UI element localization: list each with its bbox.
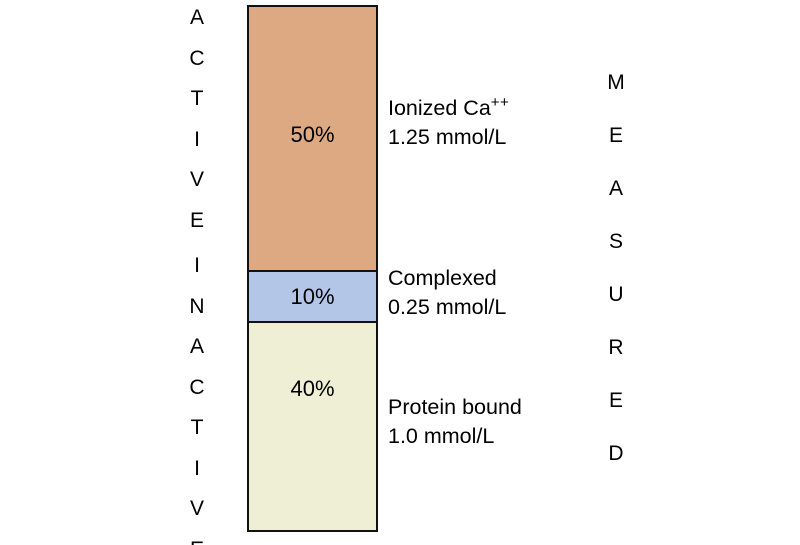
inactive-letter: I [186, 458, 208, 479]
inactive-letter: T [186, 417, 208, 438]
measured-letter: M [605, 72, 627, 93]
bar-segment-ionized: 50% [249, 7, 376, 270]
vertical-label-measured: M E A S U R E D [605, 72, 627, 496]
label-protein-concentration: 1.0 mmol/L [388, 422, 522, 451]
label-ionized: Ionized Ca++ 1.25 mmol/L [388, 88, 509, 152]
measured-letter: E [605, 390, 627, 411]
measured-letter: A [605, 178, 627, 199]
active-letter: I [186, 129, 208, 150]
inactive-letter: I [186, 255, 208, 276]
active-letter: T [186, 88, 208, 109]
vertical-label-active: A C T I V E [186, 7, 208, 250]
active-letter: C [186, 48, 208, 69]
measured-letter: E [605, 125, 627, 146]
measured-letter: S [605, 231, 627, 252]
active-letter: V [186, 169, 208, 190]
label-ionized-charge: ++ [491, 94, 510, 111]
label-ionized-name: Ionized Ca++ [388, 88, 509, 123]
inactive-letter: C [186, 377, 208, 398]
vertical-label-inactive: I N A C T I V E [186, 255, 208, 545]
label-complexed-name: Complexed [388, 264, 506, 293]
label-ionized-concentration: 1.25 mmol/L [388, 123, 509, 152]
bar-segment-complexed: 10% [249, 270, 376, 323]
label-ionized-text: Ionized Ca [388, 96, 491, 120]
measured-letter: U [605, 284, 627, 305]
inactive-letter: N [186, 296, 208, 317]
bar-segment-protein: 40% [249, 323, 376, 530]
active-letter: A [186, 7, 208, 28]
measured-letter: R [605, 337, 627, 358]
label-complexed: Complexed 0.25 mmol/L [388, 264, 506, 322]
measured-letter: D [605, 443, 627, 464]
inactive-letter: V [186, 498, 208, 519]
stacked-bar-chart: 50% 10% 40% [247, 5, 378, 532]
inactive-letter: E [186, 539, 208, 545]
segment-percent-label: 40% [290, 376, 334, 402]
label-protein-name: Protein bound [388, 393, 522, 422]
active-letter: E [186, 210, 208, 231]
segment-percent-label: 50% [290, 122, 334, 148]
segment-percent-label: 10% [290, 284, 334, 310]
label-complexed-concentration: 0.25 mmol/L [388, 293, 506, 322]
label-protein: Protein bound 1.0 mmol/L [388, 393, 522, 451]
figure-canvas: A C T I V E I N A C T I V E 50% 10% 40% … [0, 0, 800, 545]
inactive-letter: A [186, 336, 208, 357]
